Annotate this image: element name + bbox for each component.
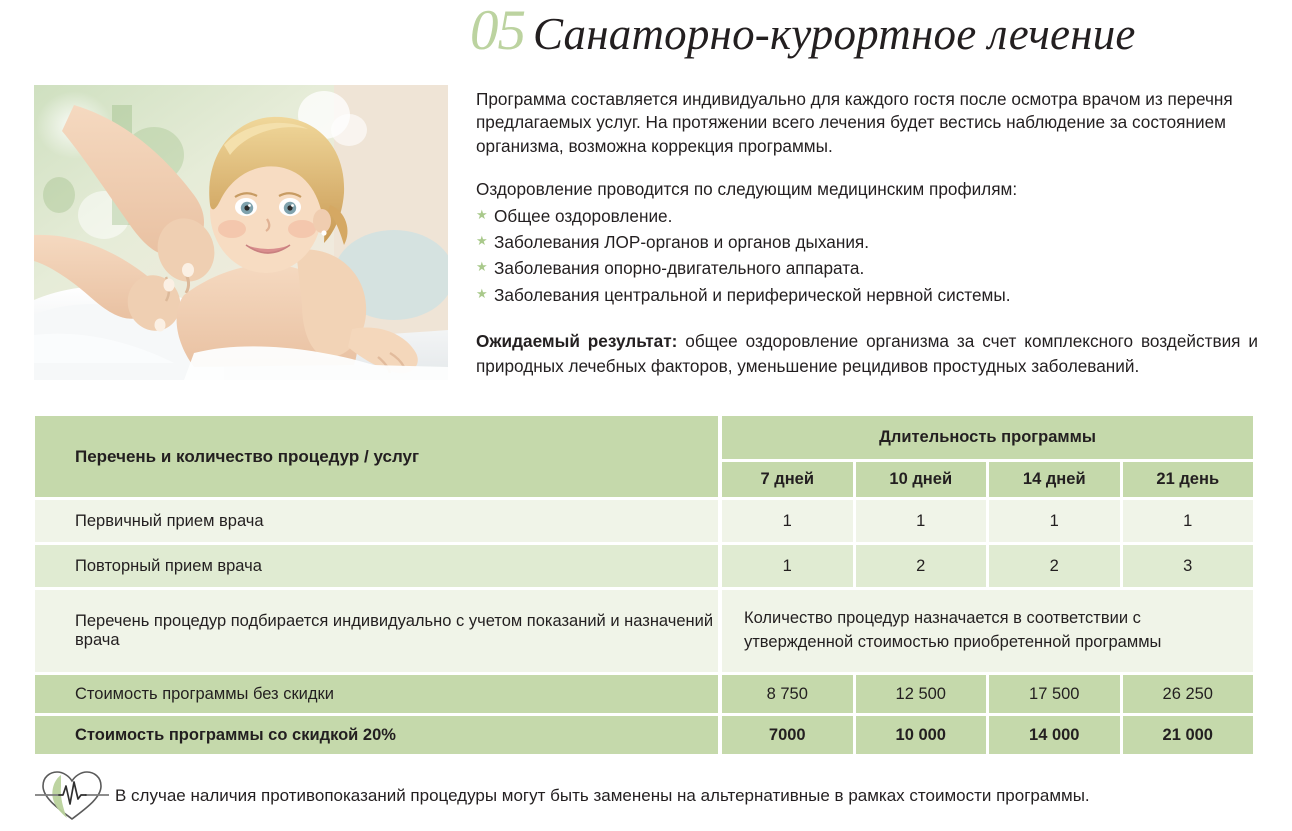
cell-value: 1 [856,500,987,542]
cell-value: 10 000 [856,716,987,754]
duration-header-label: Длительность программы [722,416,1253,459]
duration-columns: 7 дней 10 дней 14 дней 21 день [722,462,1253,497]
cell-value: 14 000 [989,716,1120,754]
row-label: Первичный прием врача [35,500,718,542]
row-values: 1 2 2 3 [722,545,1253,587]
massage-photo [34,85,448,380]
cell-value: 3 [1123,545,1254,587]
profiles-lead: Оздоровление проводится по следующим мед… [476,178,1258,201]
program-table: Перечень и количество процедур / услуг Д… [35,416,1253,754]
table-row-price-discount: Стоимость программы со скидкой 20% 7000 … [35,716,1253,754]
list-item: ★ Заболевания центральной и периферическ… [476,284,1258,307]
row-label: Стоимость программы без скидки [35,675,718,713]
list-item-label: Заболевания ЛОР-органов и органов дыхани… [494,232,869,252]
list-item: ★ Заболевания опорно-двигательного аппар… [476,257,1258,280]
cell-value: 26 250 [1123,675,1254,713]
cell-value: 21 000 [1123,716,1254,754]
star-bullet-icon: ★ [476,257,488,277]
body-copy: Программа составляется индивидуально для… [476,88,1258,378]
table-row-merged: Перечень процедур подбирается индивидуал… [35,590,1253,672]
column-header-7: 7 дней [722,462,853,497]
merged-row-label: Перечень процедур подбирается индивидуал… [35,590,718,672]
cell-value: 7000 [722,716,853,754]
cell-value: 1 [989,500,1120,542]
table-header-durations: Длительность программы 7 дней 10 дней 14… [722,416,1253,497]
expected-result-paragraph: Ожидаемый результат: общее оздоровление … [476,329,1258,378]
table-row-price: Стоимость программы без скидки 8 750 12 … [35,675,1253,713]
list-item: ★ Заболевания ЛОР-органов и органов дыха… [476,231,1258,254]
row-values: 7000 10 000 14 000 21 000 [722,716,1253,754]
row-label: Стоимость программы со скидкой 20% [35,716,718,754]
row-values: 8 750 12 500 17 500 26 250 [722,675,1253,713]
medical-profiles-list: ★ Общее оздоровление. ★ Заболевания ЛОР-… [476,205,1258,308]
table-row: Первичный прием врача 1 1 1 1 [35,500,1253,542]
intro-paragraph: Программа составляется индивидуально для… [476,88,1258,158]
table-header-row: Перечень и количество процедур / услуг Д… [35,416,1253,497]
page-title: Санаторно-курортное лечение [533,12,1136,57]
cell-value: 12 500 [856,675,987,713]
list-item: ★ Общее оздоровление. [476,205,1258,228]
footnote-text: В случае наличия противопоказаний процед… [115,786,1090,806]
table-header-description: Перечень и количество процедур / услуг [35,416,718,497]
star-bullet-icon: ★ [476,205,488,225]
cell-value: 1 [722,500,853,542]
heart-pulse-icon [33,768,111,824]
row-label: Повторный прием врача [35,545,718,587]
expected-result-label: Ожидаемый результат: [476,331,677,351]
star-bullet-icon: ★ [476,231,488,251]
column-header-21: 21 день [1123,462,1254,497]
cell-value: 2 [856,545,987,587]
cell-value: 1 [722,545,853,587]
cell-value: 17 500 [989,675,1120,713]
column-header-14: 14 дней [989,462,1120,497]
list-item-label: Общее оздоровление. [494,206,672,226]
page-header: 05 Санаторно-курортное лечение [470,2,1136,68]
list-item-label: Заболевания центральной и периферической… [494,285,1010,305]
list-item-label: Заболевания опорно-двигательного аппарат… [494,258,864,278]
cell-value: 2 [989,545,1120,587]
cell-value: 8 750 [722,675,853,713]
footnote: В случае наличия противопоказаний процед… [33,768,1263,824]
table-row: Повторный прием врача 1 2 2 3 [35,545,1253,587]
massage-photo-illustration [34,85,448,380]
star-bullet-icon: ★ [476,284,488,304]
merged-row-value: Количество процедур назначается в соотве… [722,590,1253,672]
column-header-10: 10 дней [856,462,987,497]
cell-value: 1 [1123,500,1254,542]
row-values: 1 1 1 1 [722,500,1253,542]
section-number: 05 [470,2,525,59]
